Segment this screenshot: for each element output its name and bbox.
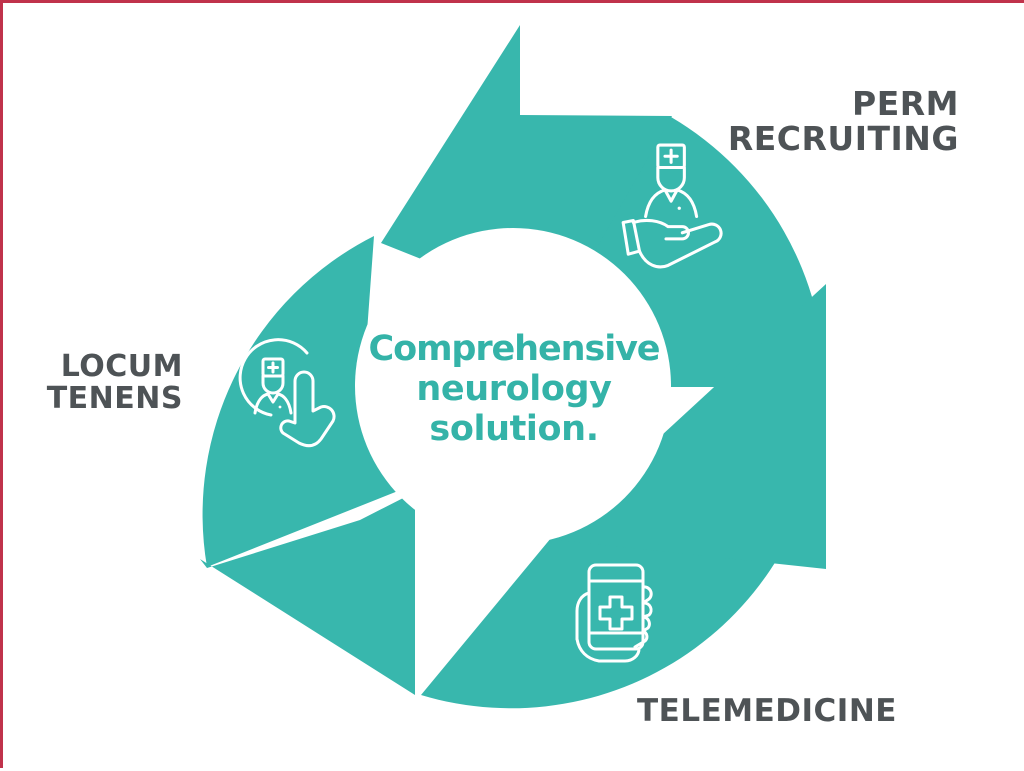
label-perm-recruiting: PERM RECRUITING [728,87,959,157]
center-headline-line-3: solution. [358,410,670,450]
center-headline: Comprehensive neurology solution. [358,330,670,450]
center-headline-line-2: neurology [358,370,670,410]
diagram-canvas: PERM RECRUITING LOCUM TENENS TELEMEDICIN… [0,0,1024,768]
label-telemedicine: TELEMEDICINE [637,695,897,728]
label-locum-tenens: LOCUM TENENS [37,351,183,415]
center-headline-line-1: Comprehensive [358,330,670,370]
